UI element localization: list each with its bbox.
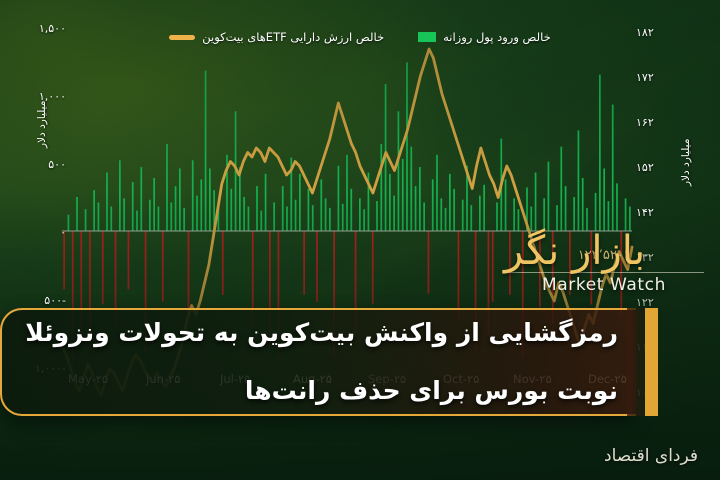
right-axis-tick-142: ۱۴۲ (636, 206, 702, 219)
left-axis-tick-0: ۰ (0, 226, 66, 239)
left-axis-tick-neg500: -۵۰۰ (0, 294, 66, 307)
left-axis-tick-500: ۵۰۰ (0, 158, 66, 171)
publisher-logo: فردای اقتصاد (604, 446, 698, 466)
poster-root: خالص ارزش دارایی ETFهای بیت‌کوین خالص ور… (0, 0, 720, 480)
headline-plate: رمزگشایی از واکنش بیت‌کوین به تحولات ونز… (0, 308, 636, 416)
ticker-ghost-number: ۱۲۳٬۵۲۰٬ (578, 248, 628, 263)
right-axis-title: میلیارد دلار (680, 139, 692, 186)
right-axis-tick-152: ۱۵۲ (636, 161, 702, 174)
headline-line-1: رمزگشایی از واکنش بیت‌کوین به تحولات ونز… (24, 319, 618, 347)
right-axis-tick-182: ۱۸۲ (636, 26, 702, 39)
right-axis-tick-132: ۱۳۲ (636, 251, 702, 264)
left-axis-tick-1000: ۱,۰۰۰ (0, 90, 66, 103)
right-axis-tick-172: ۱۷۲ (636, 71, 702, 84)
headline-plate-gapfill (627, 308, 645, 416)
right-axis-tick-162: ۱۶۲ (636, 116, 702, 129)
left-axis-tick-1500: ۱,۵۰۰ (0, 22, 66, 35)
headline-accent-stripe (645, 308, 658, 416)
headline-line-2: نوبت بورس برای حذف رانت‌ها (24, 377, 618, 405)
left-axis-title: میلیارد دلار (36, 101, 48, 148)
